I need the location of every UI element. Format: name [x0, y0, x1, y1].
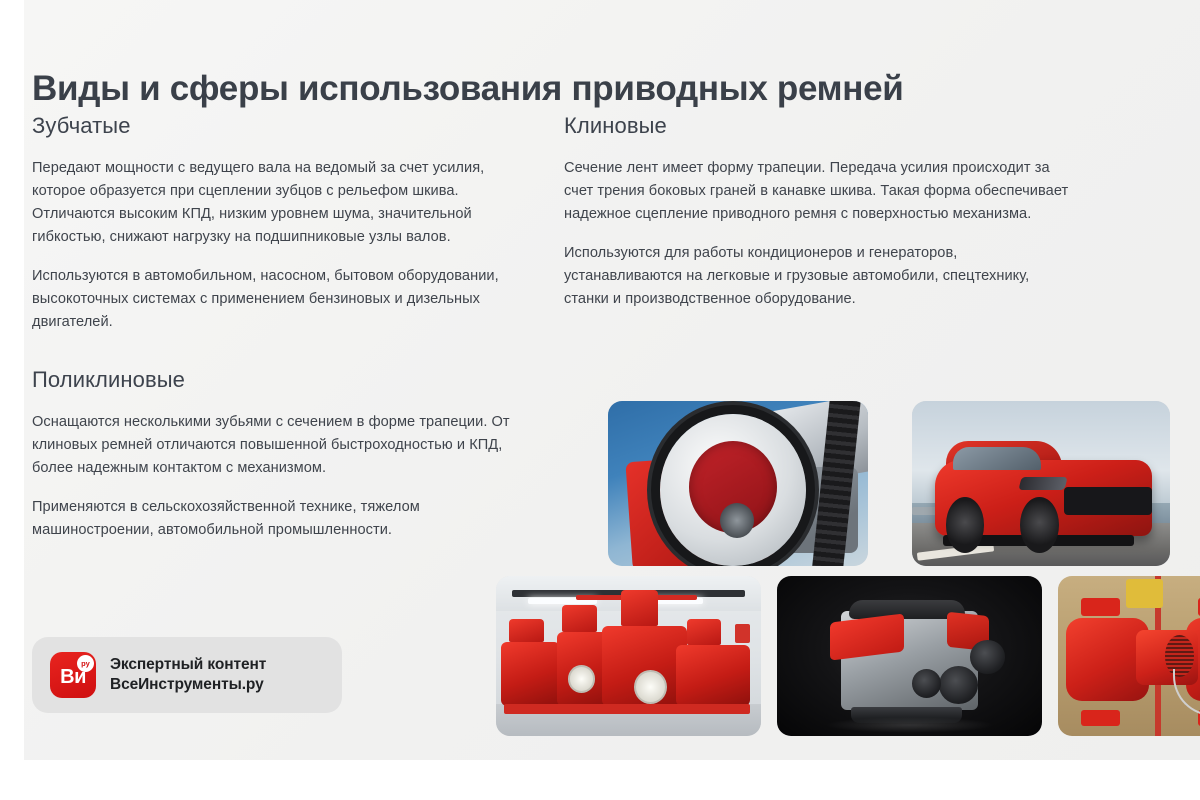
section-heading-v-belt: Клиновые	[564, 113, 1074, 139]
pump-motor-illustration	[1058, 576, 1200, 736]
page-title: Виды и сферы использования приводных рем…	[32, 69, 904, 109]
section-paragraph: Сечение лент имеет форму трапеции. Перед…	[564, 157, 1074, 226]
brand-badge-line1: Экспертный контент	[110, 655, 266, 675]
section-paragraph: Оснащаются несколькими зубьями с сечение…	[32, 411, 532, 480]
gallery-image-sports-car	[912, 401, 1170, 566]
vseinstrumenty-logo-icon: Ви ру	[50, 652, 96, 698]
content-canvas: Виды и сферы использования приводных рем…	[24, 0, 1200, 760]
section-paragraph: Используются для работы кондиционеров и …	[564, 242, 1074, 311]
brand-badge[interactable]: Ви ру Экспертный контент ВсеИнструменты.…	[32, 637, 342, 713]
section-v-belt: Клиновые Сечение лент имеет форму трапец…	[564, 113, 1074, 311]
gallery-image-pump-motor	[1058, 576, 1200, 736]
section-paragraph: Применяются в сельскохозяйственной техни…	[32, 496, 532, 542]
section-toothed: Зубчатые Передают мощности с ведущего ва…	[32, 113, 522, 334]
sports-car-illustration	[912, 401, 1170, 566]
gallery-image-fire-pumps	[496, 576, 761, 736]
v8-engine-illustration	[777, 576, 1042, 736]
belt-drive-illustration	[608, 401, 868, 566]
section-paragraph: Передают мощности с ведущего вала на вед…	[32, 157, 522, 249]
fire-pumps-illustration	[496, 576, 761, 736]
logo-tld-badge: ру	[77, 655, 94, 672]
section-poly-v: Поликлиновые Оснащаются несколькими зубь…	[32, 367, 532, 542]
brand-badge-line2: ВсеИнструменты.ру	[110, 675, 266, 695]
gallery-image-belt-drive	[608, 401, 868, 566]
section-heading-toothed: Зубчатые	[32, 113, 522, 139]
brand-badge-text: Экспертный контент ВсеИнструменты.ру	[110, 655, 266, 695]
section-paragraph: Используются в автомобильном, насосном, …	[32, 265, 522, 334]
infographic-page: Виды и сферы использования приводных рем…	[0, 0, 1200, 800]
section-heading-poly-v: Поликлиновые	[32, 367, 532, 393]
gallery-image-v8-engine	[777, 576, 1042, 736]
